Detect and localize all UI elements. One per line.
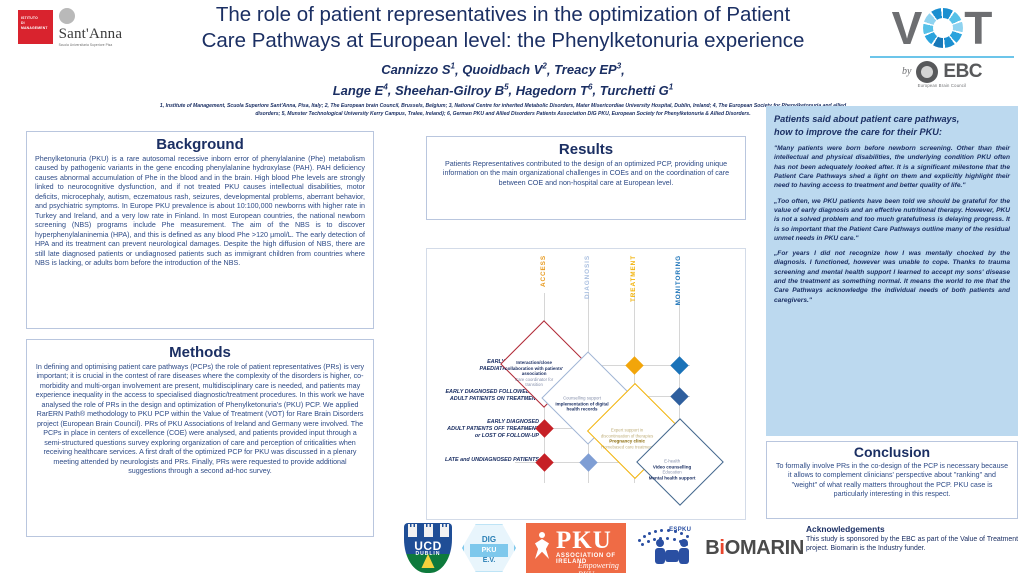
- santanna-logo: ISTITUTO DI MANAGEMENT Sant'Anna Scuola …: [18, 8, 138, 46]
- acknowledgements-heading: Acknowledgements: [806, 524, 1018, 534]
- espku-logo: ESPKU: [636, 525, 696, 571]
- author: Cannizzo S1: [381, 62, 455, 77]
- dig-pku-logo: DIG PKU E.V.: [462, 523, 516, 573]
- pku-association-ireland-logo: PKU ASSOCIATION OF IRELAND Empowering PK…: [526, 523, 626, 573]
- author: Turchetti G1: [600, 83, 674, 98]
- patient-quote: „For years I did not recognize how I was…: [774, 249, 1010, 305]
- author: Sheehan-Gilroy B5: [395, 83, 509, 98]
- results-body: Patients Representatives contributed to …: [427, 160, 745, 194]
- espku-wordmark: ESPKU: [669, 527, 691, 533]
- ebc-subtitle: European Brain Council: [866, 83, 1018, 88]
- author: Lange E4: [333, 83, 388, 98]
- pku-tagline: Empowering PKU: [578, 561, 626, 576]
- hexagon-icon: DIG PKU E.V.: [462, 523, 516, 573]
- background-heading: Background: [27, 132, 373, 155]
- vot-wheel-icon: [923, 8, 963, 48]
- poster-header: ISTITUTO DI MANAGEMENT Sant'Anna Scuola …: [0, 0, 1024, 104]
- diagram-column-header: MONITORING: [675, 255, 682, 305]
- methods-body: In defining and optimising patient care …: [27, 363, 373, 482]
- ebc-wordmark: EBC: [943, 61, 982, 83]
- person-icon: [533, 532, 551, 560]
- istituto-line1: ISTITUTO: [21, 16, 38, 20]
- author-list: Cannizzo S1, Quoidbach V2, Treacy EP3, L…: [148, 58, 858, 99]
- conclusion-heading: Conclusion: [767, 442, 1017, 462]
- methods-heading: Methods: [27, 340, 373, 363]
- istituto-management-mark: ISTITUTO DI MANAGEMENT: [18, 10, 53, 44]
- castle-icon: [408, 527, 417, 537]
- diagram-column-header: TREATMENT: [630, 255, 637, 302]
- diagram-row-label: EARLY DIAGNOSED FOLLOWED-UPADULT PATIENT…: [427, 389, 539, 403]
- ucd-shield-icon: UCD DUBLIN: [404, 523, 452, 573]
- patient-care-pathway-diagram: ACCESSDIAGNOSISTREATMENTMONITORINGEARLY …: [426, 248, 746, 520]
- biomarin-rest: OMARIN: [725, 537, 804, 559]
- diagram-row-label: LATE and UNDIAGNOSED PATIENTS: [427, 457, 539, 464]
- background-body: Phenylketonuria (PKU) is a rare autosoma…: [27, 155, 373, 274]
- vot-by-label: by: [902, 66, 911, 77]
- vot-letter-t: T: [964, 6, 992, 50]
- title-block: The role of patient representatives in t…: [148, 2, 858, 118]
- vot-logo: V T by EBC European Brain Council: [866, 2, 1018, 98]
- vot-letter-v: V: [892, 6, 923, 50]
- biomarin-b: B: [705, 537, 719, 559]
- people-icon: [652, 539, 692, 565]
- istituto-line2: DI MANAGEMENT: [21, 21, 48, 30]
- dig-pku-label: PKU: [470, 544, 508, 557]
- methods-section: Methods In defining and optimising patie…: [26, 339, 374, 537]
- diagram-row-label: EARLY DIAGNOSEDADULT PATIENTS OFF TREATM…: [427, 419, 539, 441]
- author: Quoidbach V2: [462, 62, 547, 77]
- santanna-subtitle: Scuola Universitaria Superiore Pisa: [59, 43, 138, 47]
- patient-quote: "Many patients were born before newborn …: [774, 144, 1010, 190]
- diagram-canvas: ACCESSDIAGNOSISTREATMENTMONITORINGEARLY …: [427, 249, 745, 519]
- patient-quotes-panel: Patients said about patient care pathway…: [766, 106, 1018, 436]
- partner-logo-strip: UCD DUBLIN DIG PKU E.V. PKU ASSOCIATION …: [404, 520, 804, 576]
- santanna-seal-icon: [59, 8, 75, 24]
- title-line-2: Care Pathways at European level: the Phe…: [148, 28, 858, 54]
- santanna-wordmark: Sant'Anna Scuola Universitaria Superiore…: [59, 7, 138, 47]
- quotes-title-line-2: how to improve the care for their PKU:: [774, 126, 1010, 139]
- title-line-1: The role of patient representatives in t…: [148, 2, 858, 28]
- acknowledgements-section: Acknowledgements This study is sponsored…: [806, 524, 1018, 553]
- biomarin-logo: BiOMARIN: [705, 537, 804, 560]
- quotes-title: Patients said about patient care pathway…: [774, 113, 1010, 138]
- pathway-marker: [625, 356, 643, 374]
- brain-icon: [916, 61, 938, 83]
- background-section: Background Phenylketonuria (PKU) is a ra…: [26, 131, 374, 329]
- page-title: The role of patient representatives in t…: [148, 2, 858, 54]
- diagram-column-header: DIAGNOSIS: [584, 255, 591, 299]
- affiliations: 1, Institute of Management, Scuola Super…: [148, 102, 858, 118]
- pathway-marker: [670, 356, 688, 374]
- dig-ev-label: E.V.: [464, 557, 514, 564]
- conclusion-body: To formally involve PRs in the co-design…: [767, 462, 1017, 505]
- author: Hagedorn T6: [516, 83, 593, 98]
- pathway-marker: [579, 453, 597, 471]
- results-section: Results Patients Representatives contrib…: [426, 136, 746, 220]
- conclusion-section: Conclusion To formally involve PRs in th…: [766, 441, 1018, 519]
- author: Treacy EP3: [554, 62, 621, 77]
- poster-canvas: ISTITUTO DI MANAGEMENT Sant'Anna Scuola …: [0, 0, 1024, 576]
- patient-quote: „Too often, we PKU patients have been to…: [774, 197, 1010, 243]
- pku-wordmark: PKU: [556, 527, 612, 555]
- acknowledgements-body: This study is sponsored by the EBC as pa…: [806, 535, 1018, 553]
- pathway-marker: [670, 387, 688, 405]
- castle-icon: [424, 527, 433, 537]
- diagram-column-header: ACCESS: [540, 255, 547, 287]
- castle-icon: [440, 527, 449, 537]
- results-heading: Results: [427, 137, 745, 160]
- dig-label: DIG: [464, 535, 514, 544]
- ucd-dublin-logo: UCD DUBLIN: [404, 523, 452, 573]
- quotes-title-line-1: Patients said about patient care pathway…: [774, 113, 1010, 126]
- vot-divider: [870, 56, 1014, 58]
